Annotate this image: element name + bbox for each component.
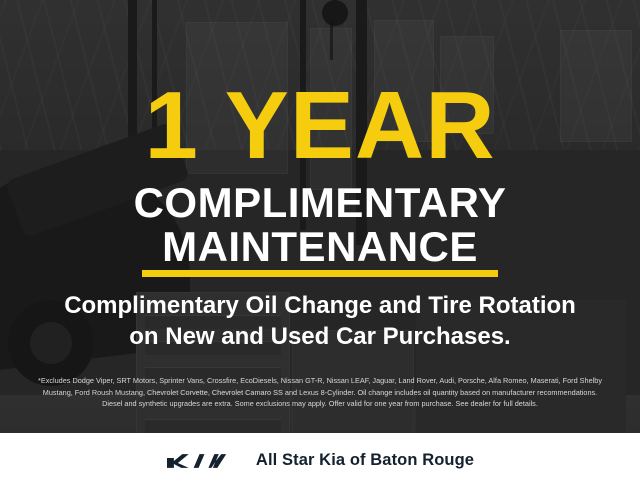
kia-logo xyxy=(166,451,240,471)
subhead-complimentary: COMPLIMENTARY xyxy=(0,180,640,226)
banner-content: 1 YEAR COMPLIMENTARY MAINTENANCE Complim… xyxy=(0,0,640,488)
promotional-banner: 1 YEAR COMPLIMENTARY MAINTENANCE Complim… xyxy=(0,0,640,488)
dealership-name: All Star Kia of Baton Rouge xyxy=(256,451,474,470)
offer-description-line-2: on New and Used Car Purchases. xyxy=(0,321,640,352)
disclaimer-line-3: Diesel and synthetic upgrades are extra.… xyxy=(14,398,626,410)
subhead-maintenance: MAINTENANCE xyxy=(0,224,640,270)
offer-description: Complimentary Oil Change and Tire Rotati… xyxy=(0,290,640,352)
headline-1-year: 1 YEAR xyxy=(0,78,640,174)
legal-disclaimer: *Excludes Dodge Viper, SRT Motors, Sprin… xyxy=(14,375,626,410)
yellow-divider-bar xyxy=(142,270,498,277)
footer-bar: All Star Kia of Baton Rouge xyxy=(0,433,640,488)
offer-description-line-1: Complimentary Oil Change and Tire Rotati… xyxy=(0,290,640,321)
disclaimer-line-1: *Excludes Dodge Viper, SRT Motors, Sprin… xyxy=(14,375,626,387)
disclaimer-line-2: Mustang, Ford Roush Mustang, Chevrolet C… xyxy=(14,387,626,399)
